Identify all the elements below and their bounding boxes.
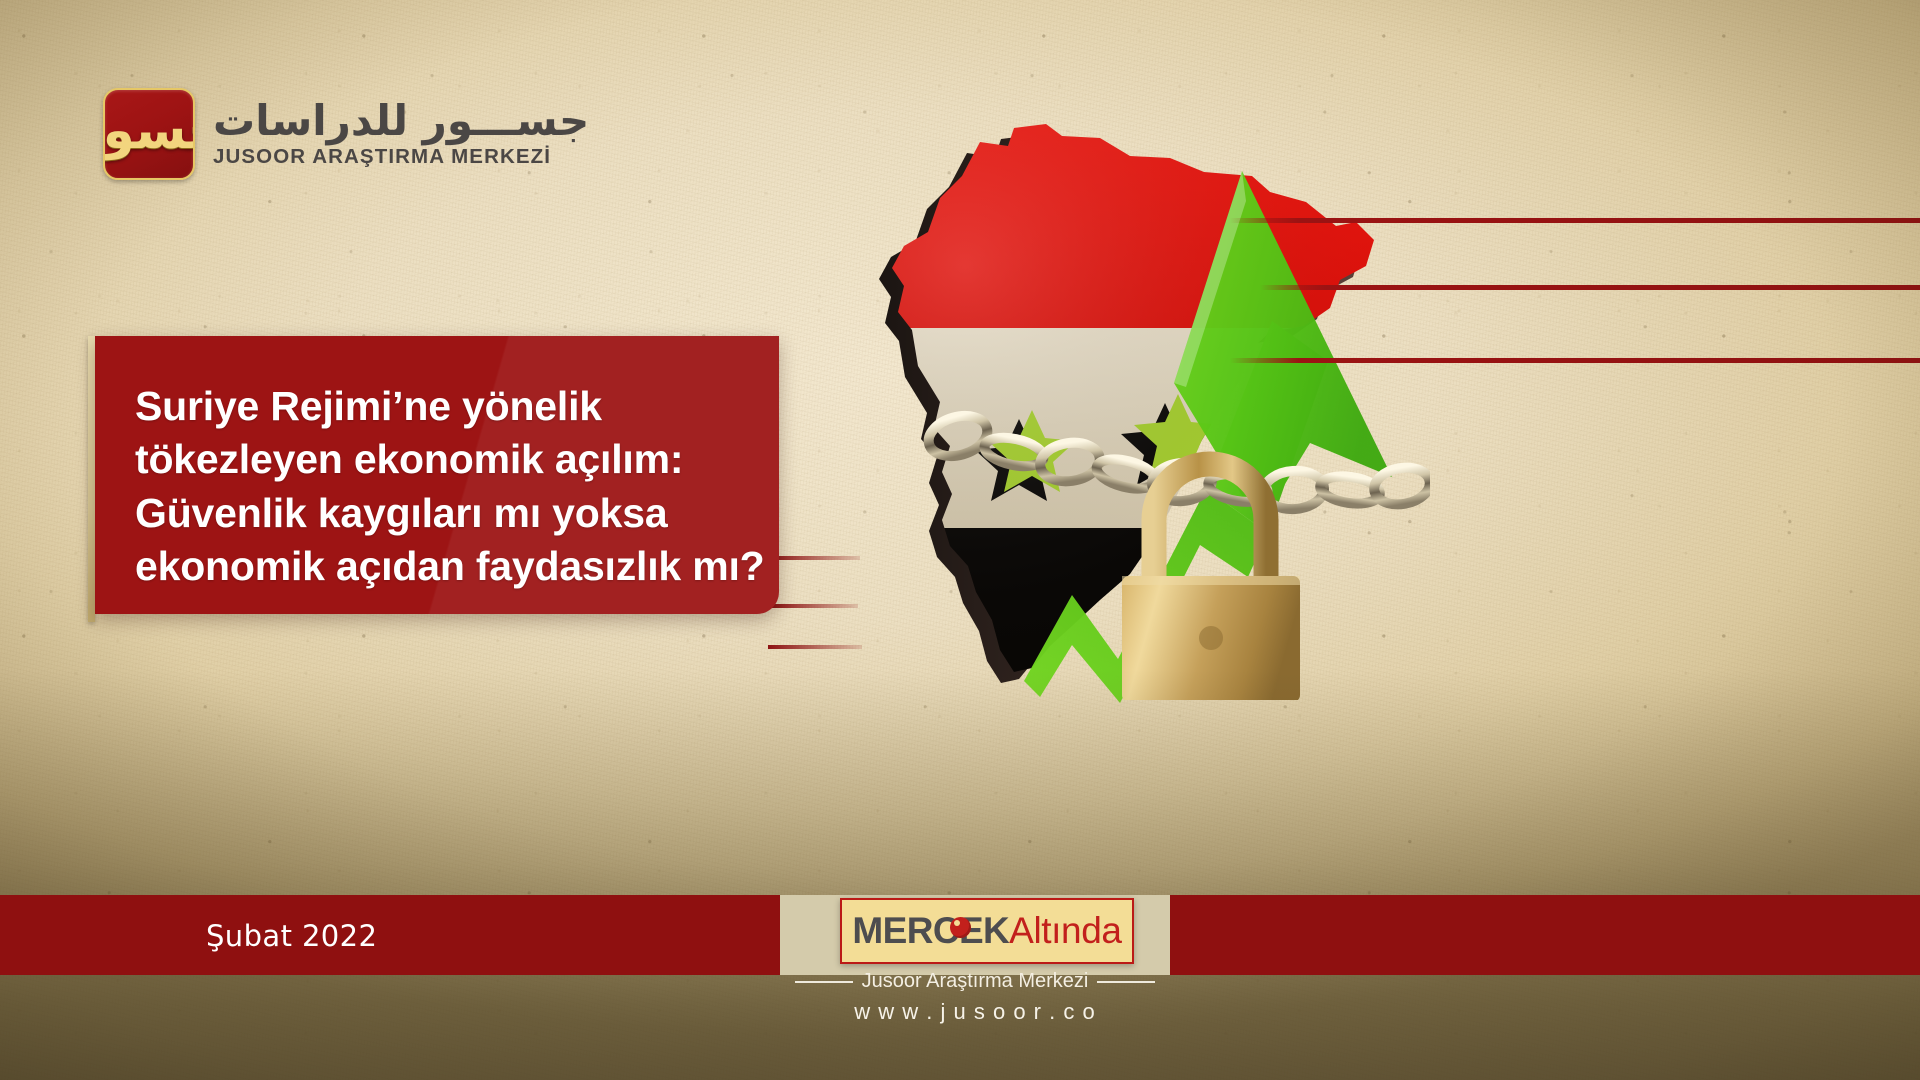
- mercek-logo-box: MERCEK Altında: [840, 898, 1134, 964]
- mercek-wordmark: MERCEK Altında: [852, 910, 1121, 952]
- subtitle-rule-left: [795, 981, 853, 983]
- jusoor-logo[interactable]: جسور جســـور للدراسات JUSOOR ARAŞTIRMA M…: [103, 88, 589, 180]
- mercek-subtitle-row: Jusoor Araştırma Merkezi: [788, 970, 1162, 993]
- page-title: Suriye Rejimi’ne yönelik tökezleyen ekon…: [135, 380, 761, 593]
- mercek-word-secondary: Altında: [1009, 910, 1121, 952]
- jusoor-logo-text: جســـور للدراسات JUSOOR ARAŞTIRMA MERKEZ…: [213, 99, 589, 170]
- jusoor-arabic-monogram: جسور: [103, 105, 195, 157]
- website-url[interactable]: w w w . j u s o o r . c o: [788, 999, 1162, 1025]
- title-panel: Suriye Rejimi’ne yönelik tökezleyen ekon…: [95, 336, 779, 614]
- jusoor-arabic-name: جســـور للدراسات: [213, 99, 589, 143]
- title-gold-accent-bar: [88, 336, 95, 622]
- mercek-subtitle: Jusoor Araştırma Merkezi: [862, 970, 1089, 993]
- mercek-word-primary: MERCEK: [852, 910, 1009, 952]
- mercek-altinda-logo[interactable]: MERCEK Altında Jusoor Araştırma Merkezi …: [788, 884, 1162, 1054]
- poster-canvas: جسور جســـور للدراسات JUSOOR ARAŞTIRMA M…: [0, 0, 1920, 1080]
- title-line-1: Suriye Rejimi’ne yönelik: [135, 380, 761, 433]
- publication-date: Şubat 2022: [206, 919, 377, 953]
- jusoor-latin-name: JUSOOR ARAŞTIRMA MERKEZİ: [213, 145, 589, 169]
- title-line-4: ekonomik açıdan faydasızlık mı?: [135, 540, 761, 593]
- title-line-2: tökezleyen ekonomik açılım:: [135, 433, 761, 486]
- subtitle-rule-right: [1097, 981, 1155, 983]
- jusoor-logo-mark: جسور: [103, 88, 195, 180]
- title-line-3: Güvenlik kaygıları mı yoksa: [135, 487, 761, 540]
